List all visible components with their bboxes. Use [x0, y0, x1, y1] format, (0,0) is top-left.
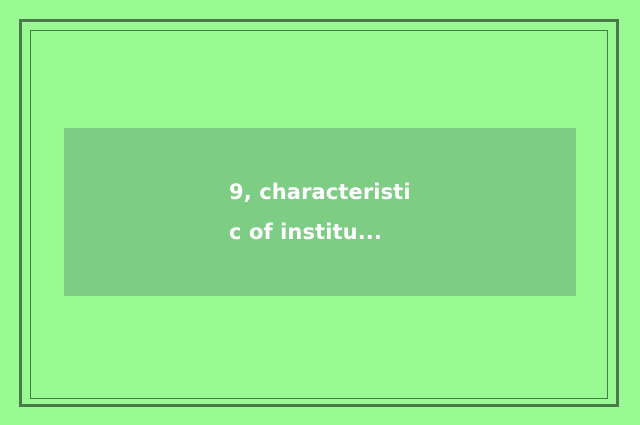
- caption-overlay-panel: 9, characteristic of institu...: [64, 128, 576, 296]
- image-canvas: 9, characteristic of institu...: [0, 0, 640, 425]
- caption-text: 9, characteristic of institu...: [229, 172, 411, 252]
